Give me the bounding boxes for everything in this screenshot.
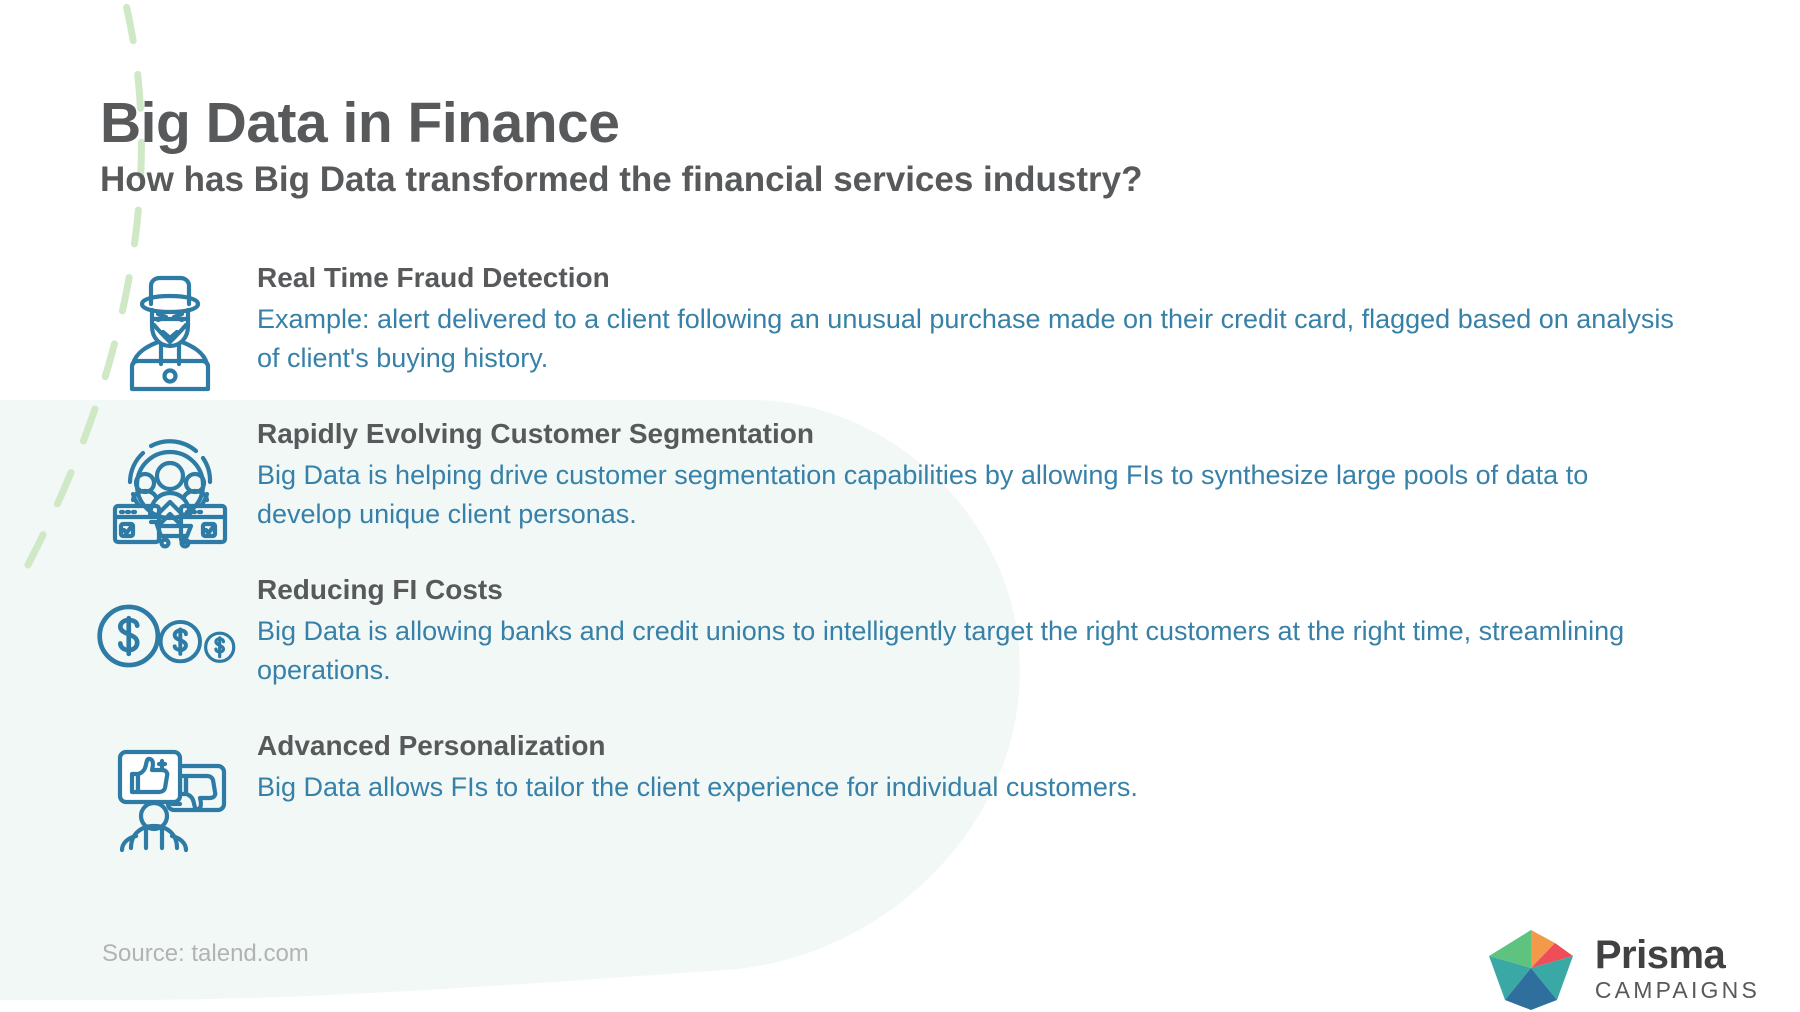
section-body: Rapidly Evolving Customer Segmentation B… <box>245 418 1755 533</box>
customer-segmentation-icon <box>95 422 245 556</box>
thief-laptop-icon <box>95 270 245 398</box>
page-title: Big Data in Finance <box>100 95 1600 152</box>
thumbs-feedback-icon <box>95 744 245 864</box>
header-block: Big Data in Finance How has Big Data tra… <box>100 95 1600 199</box>
section-customer-segmentation: Rapidly Evolving Customer Segmentation B… <box>95 418 1755 556</box>
logo-wordmark: Prisma CAMPAIGNS <box>1595 935 1760 1002</box>
section-reducing-fi-costs: Reducing FI Costs Big Data is allowing b… <box>95 574 1755 689</box>
logo-name: Prisma <box>1595 935 1760 975</box>
section-description: Big Data is helping drive customer segme… <box>257 456 1677 533</box>
prism-gem-icon <box>1483 920 1579 1012</box>
infographic-canvas: Big Data in Finance How has Big Data tra… <box>0 0 1800 1012</box>
section-heading: Reducing FI Costs <box>257 574 1755 606</box>
dollar-coins-icon <box>95 596 245 676</box>
section-heading: Real Time Fraud Detection <box>257 262 1755 294</box>
section-heading: Advanced Personalization <box>257 730 1755 762</box>
section-real-time-fraud-detection: Real Time Fraud Detection Example: alert… <box>95 262 1755 398</box>
section-description: Big Data allows FIs to tailor the client… <box>257 768 1677 806</box>
section-advanced-personalization: Advanced Personalization Big Data allows… <box>95 730 1755 864</box>
section-description: Big Data is allowing banks and credit un… <box>257 612 1677 689</box>
section-body: Real Time Fraud Detection Example: alert… <box>245 262 1755 377</box>
section-body: Advanced Personalization Big Data allows… <box>245 730 1755 807</box>
section-description: Example: alert delivered to a client fol… <box>257 300 1677 377</box>
page-subtitle: How has Big Data transformed the financi… <box>100 162 1600 199</box>
prisma-campaigns-logo: Prisma CAMPAIGNS <box>1483 920 1760 1012</box>
section-body: Reducing FI Costs Big Data is allowing b… <box>245 574 1755 689</box>
section-heading: Rapidly Evolving Customer Segmentation <box>257 418 1755 450</box>
logo-tagline: CAMPAIGNS <box>1595 979 1760 1002</box>
source-attribution: Source: talend.com <box>102 940 309 968</box>
